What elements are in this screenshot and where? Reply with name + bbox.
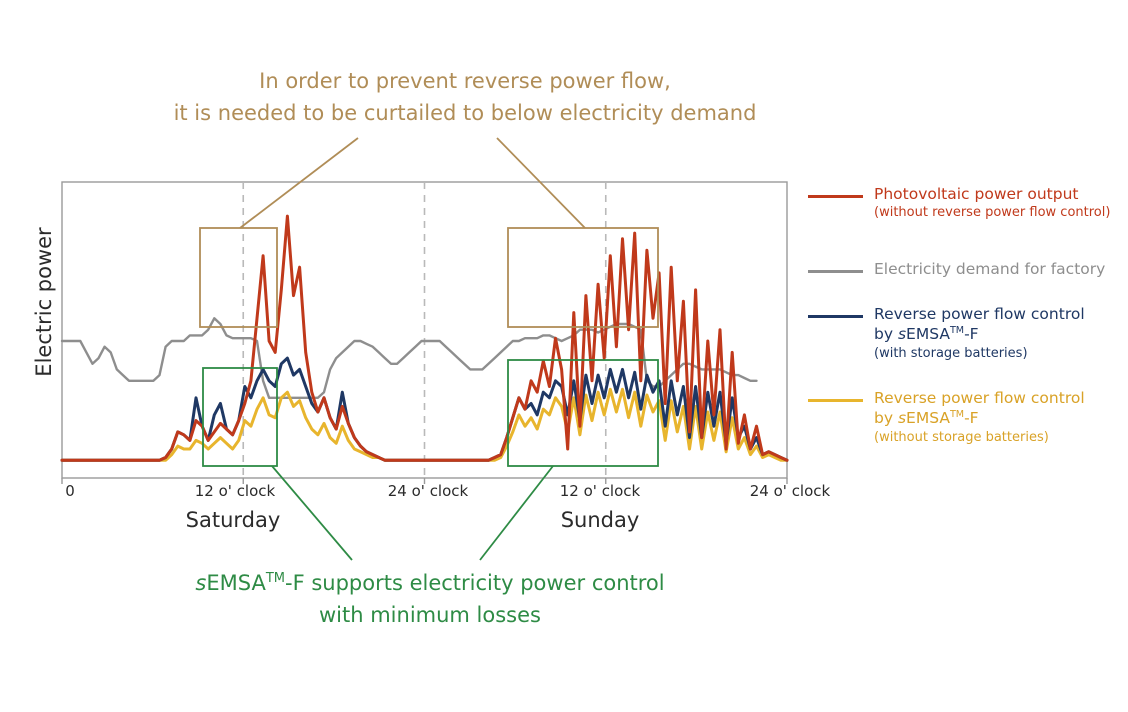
- chart-figure: In order to prevent reverse power flow, …: [0, 0, 1128, 712]
- plot-area: [0, 0, 1128, 712]
- gridlines: [243, 182, 606, 478]
